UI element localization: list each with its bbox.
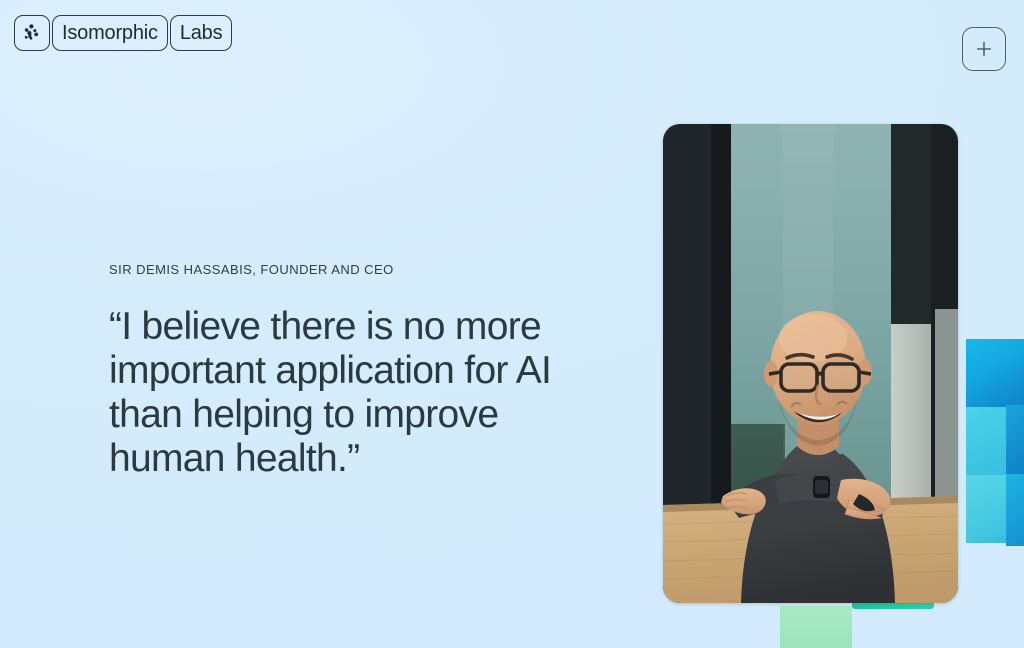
plus-icon — [974, 39, 994, 59]
quote-text: “I believe there is no more important ap… — [109, 305, 579, 481]
decoration-cube-blue-lower — [1006, 474, 1024, 546]
brand-word-isomorphic-label: Isomorphic — [62, 23, 158, 43]
quote-section: SIR DEMIS HASSABIS, FOUNDER AND CEO “I b… — [109, 262, 589, 481]
decoration-cube-blue-upper — [1006, 405, 1024, 475]
decoration-mint-block — [780, 606, 852, 648]
molecule-cluster-icon — [20, 21, 44, 45]
brand-word-labs[interactable]: Labs — [170, 15, 233, 51]
portrait-photo-card — [663, 124, 958, 603]
decoration-cube-cyan-top — [966, 339, 1024, 407]
brand-word-labs-label: Labs — [180, 23, 223, 43]
logo-mark-pill[interactable] — [14, 15, 50, 51]
brand-logo-group[interactable]: Isomorphic Labs — [14, 15, 232, 51]
quote-attribution: SIR DEMIS HASSABIS, FOUNDER AND CEO — [109, 262, 589, 277]
brand-word-isomorphic[interactable]: Isomorphic — [52, 15, 168, 51]
page-root: Isomorphic Labs — [0, 0, 1024, 648]
add-button[interactable] — [962, 27, 1006, 71]
